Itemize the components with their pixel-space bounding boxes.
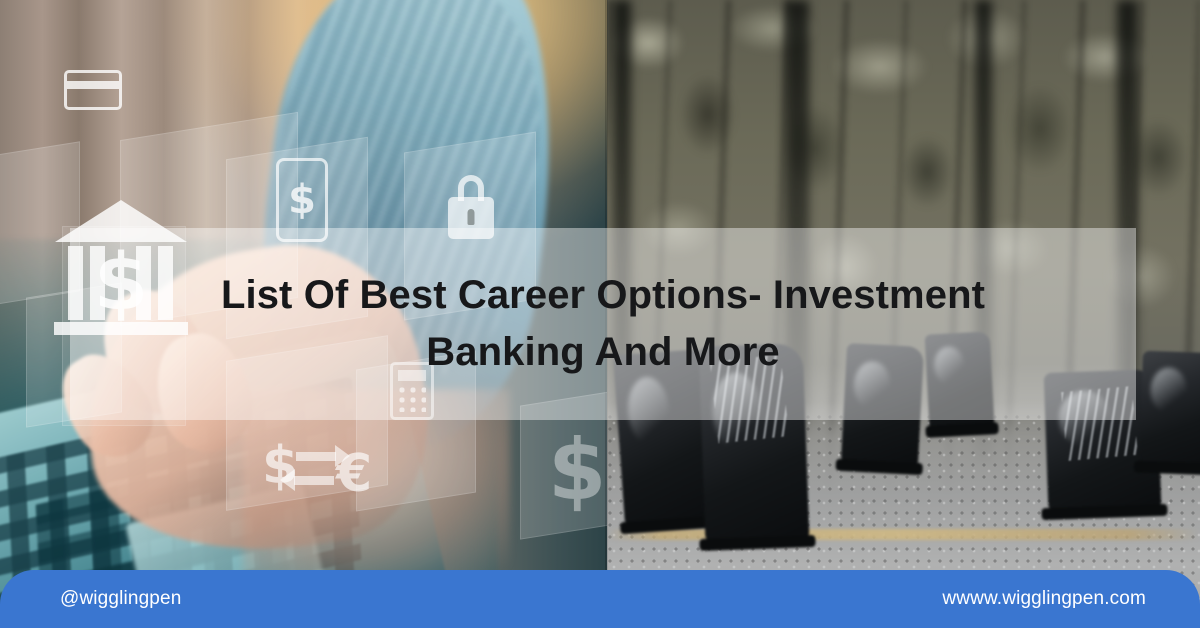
title-line-1: List Of Best Career Options- Investment xyxy=(221,267,985,324)
blog-banner: $ $ $ € xyxy=(0,0,1200,628)
social-handle[interactable]: @wigglingpen xyxy=(60,588,181,610)
boot-shine xyxy=(1150,367,1187,413)
title-line-2: Banking And More xyxy=(426,324,779,381)
page-title: List Of Best Career Options- Investment … xyxy=(70,228,1136,420)
road-stripe xyxy=(607,529,1200,540)
website-url[interactable]: wwww.wigglingpen.com xyxy=(942,588,1146,610)
combat-boot xyxy=(1139,350,1200,466)
footer-bar: @wigglingpen wwww.wigglingpen.com xyxy=(0,570,1200,628)
